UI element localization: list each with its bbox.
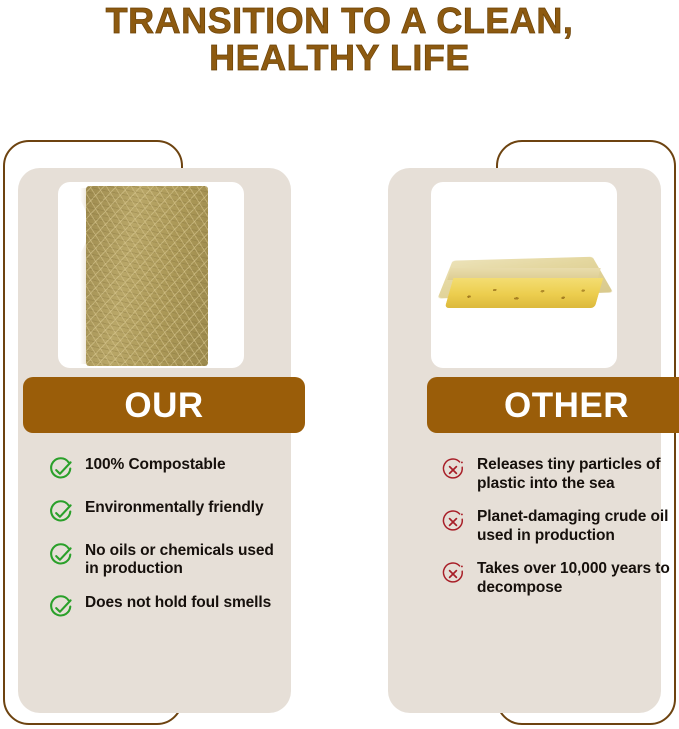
coir-sponge-image xyxy=(86,186,208,366)
list-item-label: Takes over 10,000 years to decompose xyxy=(477,560,679,597)
list-item: Planet-damaging crude oil used in produc… xyxy=(440,508,679,545)
other-banner: OTHER xyxy=(427,377,679,433)
list-item: Releases tiny particles of plastic into … xyxy=(440,456,679,493)
our-product-column: OUR 100% Compostable xyxy=(0,138,330,729)
list-item-label: 100% Compostable xyxy=(85,456,226,474)
cross-circle-icon xyxy=(440,561,466,587)
list-item: Takes over 10,000 years to decompose xyxy=(440,560,679,597)
list-item-label: Planet-damaging crude oil used in produc… xyxy=(477,508,679,545)
other-product-column: OTHER Releases tiny particles of plastic… xyxy=(349,138,679,729)
our-product-photo xyxy=(58,182,244,368)
list-item-label: Releases tiny particles of plastic into … xyxy=(477,456,679,493)
other-banner-label: OTHER xyxy=(504,388,629,423)
check-circle-icon xyxy=(48,457,74,483)
cross-circle-icon xyxy=(440,509,466,535)
other-feature-list: Releases tiny particles of plastic into … xyxy=(440,456,679,612)
list-item-label: No oils or chemicals used in production xyxy=(85,542,288,578)
other-product-photo xyxy=(431,182,617,368)
our-feature-list: 100% Compostable Environmentally friendl… xyxy=(48,456,288,637)
other-product-card: OTHER Releases tiny particles of plastic… xyxy=(388,168,661,713)
our-banner: OUR xyxy=(23,377,305,433)
cross-circle-icon xyxy=(440,457,466,483)
page-title-line-2: HEALTHY LIFE xyxy=(0,39,679,76)
list-item-label: Does not hold foul smells xyxy=(85,594,271,612)
coir-sponge-body xyxy=(86,186,208,366)
list-item: No oils or chemicals used in production xyxy=(48,542,288,578)
check-circle-icon xyxy=(48,543,74,569)
list-item-label: Environmentally friendly xyxy=(85,499,263,517)
page-title: TRANSITION TO A CLEAN, HEALTHY LIFE xyxy=(0,0,679,76)
list-item: 100% Compostable xyxy=(48,456,288,483)
list-item: Environmentally friendly xyxy=(48,499,288,526)
page-title-line-1: TRANSITION TO A CLEAN, xyxy=(0,2,679,39)
list-item: Does not hold foul smells xyxy=(48,594,288,621)
check-circle-icon xyxy=(48,595,74,621)
sponge-porous-body xyxy=(445,278,604,308)
comparison-cards: OUR 100% Compostable xyxy=(0,138,679,729)
check-circle-icon xyxy=(48,500,74,526)
our-product-card: OUR 100% Compostable xyxy=(18,168,291,713)
our-banner-label: OUR xyxy=(124,388,203,423)
